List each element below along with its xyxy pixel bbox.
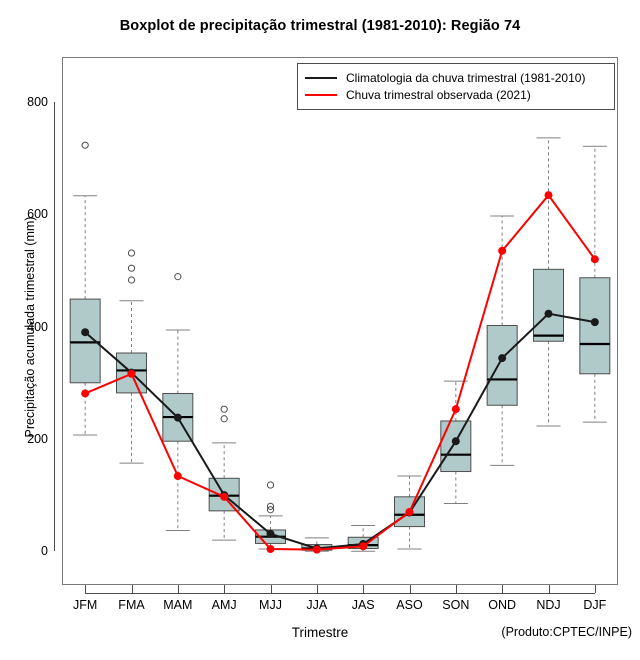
x-tick-label-son: SON: [442, 598, 469, 612]
series-point: [81, 389, 89, 397]
legend-label-observada: Chuva trimestral observada (2021): [346, 88, 531, 102]
legend-swatch-climatologia: [305, 77, 337, 79]
x-tick-label-mjj: MJJ: [259, 598, 282, 612]
x-tick-mark: [271, 585, 272, 593]
series-point: [174, 472, 182, 480]
x-tick-label-amj: AMJ: [212, 598, 237, 612]
y-axis-line: [54, 102, 55, 551]
page-title: Boxplot de precipitação trimestral (1981…: [0, 18, 640, 34]
series-point: [591, 318, 599, 326]
legend-label-climatologia: Climatologia da chuva trimestral (1981-2…: [346, 71, 585, 85]
series-point: [174, 414, 182, 422]
series-point: [267, 530, 275, 538]
x-tick-label-ond: OND: [488, 598, 516, 612]
x-tick-label-djf: DJF: [583, 598, 606, 612]
x-tick-mark: [456, 585, 457, 593]
x-tick-mark: [317, 585, 318, 593]
series-point: [452, 437, 460, 445]
x-tick-mark: [363, 585, 364, 593]
x-tick-label-jas: JAS: [352, 598, 375, 612]
x-tick-label-ndj: NDJ: [536, 598, 560, 612]
x-axis-line: [85, 593, 595, 594]
x-tick-label-fma: FMA: [118, 598, 144, 612]
y-tick-label: 600: [27, 207, 48, 221]
series-point: [267, 545, 275, 553]
product-note: (Produto:CPTEC/INPE): [501, 625, 632, 639]
series-chuva: [81, 191, 599, 553]
x-tick-mark: [502, 585, 503, 593]
series-point: [359, 542, 367, 550]
x-tick-label-jfm: JFM: [73, 598, 97, 612]
legend-swatch-observada: [305, 94, 337, 96]
x-tick-mark: [410, 585, 411, 593]
legend: Climatologia da chuva trimestral (1981-2…: [297, 63, 615, 110]
series-point: [452, 405, 460, 413]
series-point: [545, 310, 553, 318]
y-tick-label: 200: [27, 432, 48, 446]
x-tick-label-jja: JJA: [306, 598, 327, 612]
series-point: [591, 255, 599, 263]
series-point: [545, 191, 553, 199]
legend-item-observada: Chuva trimestral observada (2021): [305, 86, 607, 103]
series-line: [85, 314, 595, 549]
series-point: [498, 354, 506, 362]
series-point: [128, 370, 136, 378]
x-tick-mark: [549, 585, 550, 593]
series-climatologia: [81, 310, 599, 553]
series-line: [85, 195, 595, 549]
x-tick-mark: [595, 585, 596, 593]
y-axis: Precipitação acumulada trimestral (mm) 0…: [0, 0, 62, 660]
x-tick-label-mam: MAM: [163, 598, 192, 612]
series-point: [81, 328, 89, 336]
y-tick-label: 0: [41, 544, 48, 558]
y-tick-label: 400: [27, 320, 48, 334]
x-tick-mark: [178, 585, 179, 593]
line-series: [62, 57, 618, 585]
chart-root: Boxplot de precipitação trimestral (1981…: [0, 0, 640, 660]
series-point: [220, 493, 228, 501]
x-tick-mark: [85, 585, 86, 593]
series-point: [498, 247, 506, 255]
x-tick-mark: [132, 585, 133, 593]
x-axis: Trimestre (Produto:CPTEC/INPE) JFMFMAMAM…: [0, 585, 640, 660]
x-tick-label-aso: ASO: [396, 598, 422, 612]
series-point: [406, 508, 414, 516]
legend-item-climatologia: Climatologia da chuva trimestral (1981-2…: [305, 69, 607, 86]
plot-area: [62, 57, 618, 585]
series-point: [313, 546, 321, 554]
y-tick-label: 800: [27, 95, 48, 109]
x-tick-mark: [224, 585, 225, 593]
